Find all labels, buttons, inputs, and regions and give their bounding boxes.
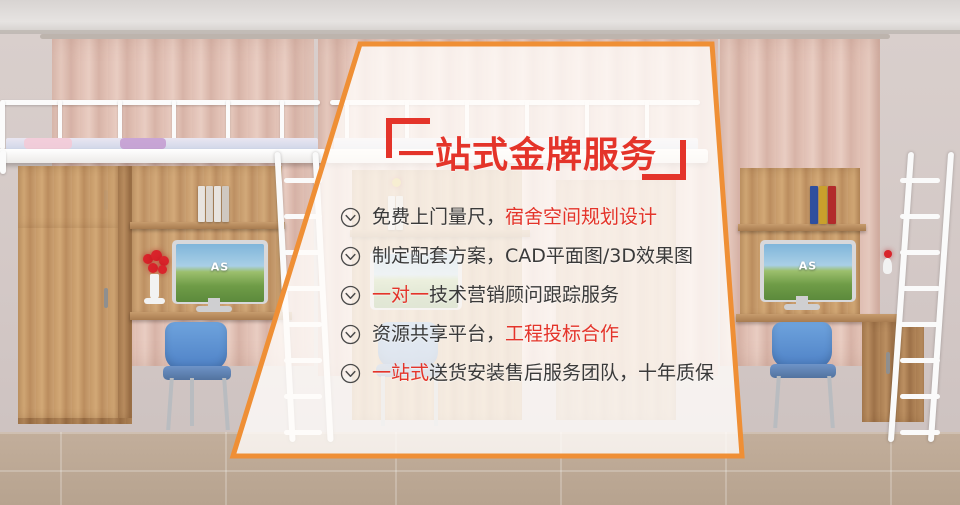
list-item-text-plain: 制定配套方案，CAD平面图/3D效果图 xyxy=(372,247,693,266)
list-item-text-highlight: 工程投标合作 xyxy=(505,325,619,344)
service-list: 免费上门量尺， 宿舍空间规划设计 制定配套方案，CAD平面图/3D效果图 xyxy=(340,198,760,393)
list-item-text-plain: 资源共享平台， xyxy=(372,325,505,344)
check-circle-icon xyxy=(340,246,361,267)
banner-stage: AS xyxy=(0,0,960,505)
title-block: 一站式金牌服务 xyxy=(386,112,686,184)
list-item: 一站式 送货安装售后服务团队，十年质保 xyxy=(340,354,760,393)
list-item-text-tail: 送货安装售后服务团队，十年质保 xyxy=(429,364,714,383)
list-item: 资源共享平台， 工程投标合作 xyxy=(340,315,760,354)
list-item-text-tail: 技术营销顾问跟踪服务 xyxy=(429,286,619,305)
check-circle-icon xyxy=(340,324,361,345)
list-item-text-highlight: 一站式 xyxy=(372,364,429,383)
check-circle-icon xyxy=(340,207,361,228)
bracket-bottom-right-vertical xyxy=(680,140,686,180)
list-item: 免费上门量尺， 宿舍空间规划设计 xyxy=(340,198,760,237)
page-title: 一站式金牌服务 xyxy=(398,126,657,178)
check-circle-icon xyxy=(340,285,361,306)
list-item-text-plain: 免费上门量尺， xyxy=(372,208,505,227)
list-item-text-highlight: 宿舍空间规划设计 xyxy=(505,208,657,227)
list-item-text-highlight: 一对一 xyxy=(372,286,429,305)
list-item: 一对一 技术营销顾问跟踪服务 xyxy=(340,276,760,315)
check-circle-icon xyxy=(340,363,361,384)
list-item: 制定配套方案，CAD平面图/3D效果图 xyxy=(340,237,760,276)
panel-content: 一站式金牌服务 免费上门量尺， 宿舍空间规划设计 xyxy=(0,0,960,505)
bracket-top-left-horizontal xyxy=(386,118,430,124)
bracket-top-left-vertical xyxy=(386,118,392,158)
